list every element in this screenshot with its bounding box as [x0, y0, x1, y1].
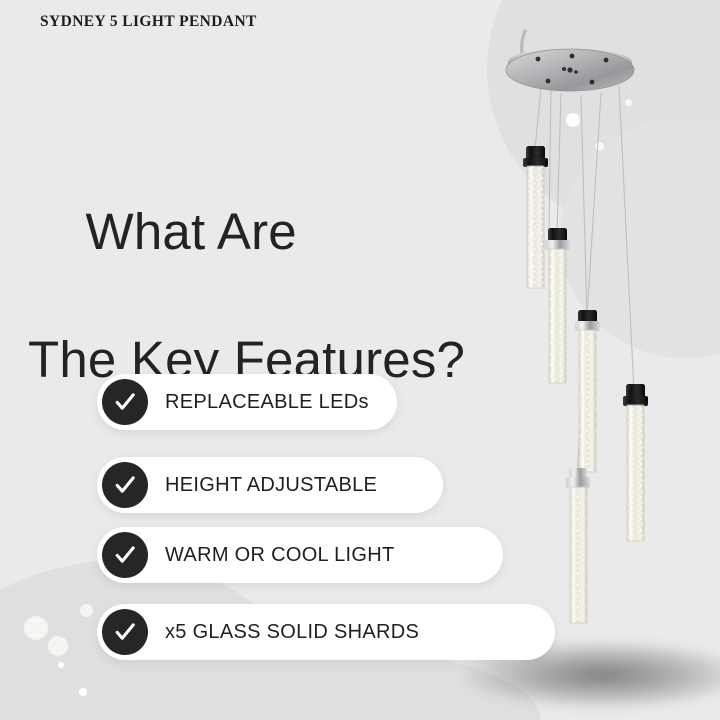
- feature-pill-warm-or-cool-light[interactable]: WARM OR COOL LIGHT: [97, 527, 503, 583]
- feature-label: x5 GLASS SOLID SHARDS: [165, 621, 419, 644]
- glass-rod-4: [623, 384, 648, 541]
- page-title-line-1: What Are: [85, 203, 296, 260]
- check-icon: [102, 532, 148, 578]
- glass-rod-3: [575, 310, 600, 472]
- feature-pill-glass-solid-shards[interactable]: x5 GLASS SOLID SHARDS: [97, 604, 555, 660]
- check-icon: [102, 609, 148, 655]
- feature-label: HEIGHT ADJUSTABLE: [165, 474, 377, 497]
- glass-rod-5: [566, 468, 590, 623]
- check-icon: [102, 462, 148, 508]
- check-icon: [102, 379, 148, 425]
- feature-label: WARM OR COOL LIGHT: [165, 544, 394, 567]
- glass-rod-1: [523, 146, 548, 288]
- feature-label: REPLACEABLE LEDs: [165, 391, 369, 414]
- feature-pill-height-adjustable[interactable]: HEIGHT ADJUSTABLE: [97, 457, 443, 513]
- product-kicker: SYDNEY 5 LIGHT PENDANT: [40, 13, 257, 31]
- feature-pill-replaceable-leds[interactable]: REPLACEABLE LEDs: [97, 374, 397, 430]
- ceiling-plate: [506, 48, 634, 91]
- glass-rod-2: [545, 228, 570, 383]
- poster-canvas: SYDNEY 5 LIGHT PENDANT What Are The Key …: [0, 0, 720, 720]
